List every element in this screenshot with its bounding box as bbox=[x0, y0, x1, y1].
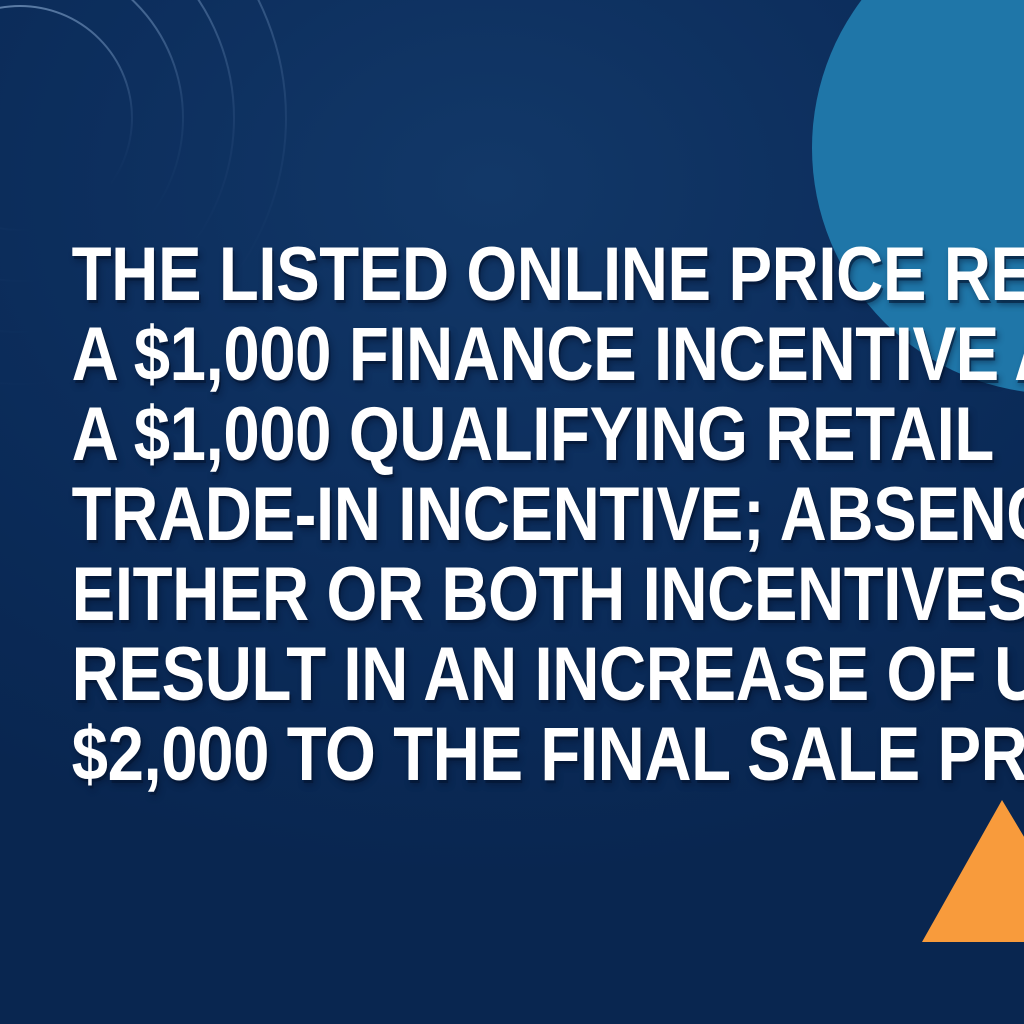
headline-line-5: EITHER OR BOTH INCENTIVES WILL bbox=[72, 555, 953, 635]
headline-line-6: RESULT IN AN INCREASE OF UP TO bbox=[72, 635, 953, 715]
headline-line-7: $2,000 TO THE FINAL SALE PRICE. bbox=[72, 715, 953, 795]
headline-line-2: A $1,000 FINANCE INCENTIVE AND bbox=[72, 315, 953, 395]
headline-line-4: TRADE-IN INCENTIVE; ABSENCE OF bbox=[72, 475, 953, 555]
promo-banner: THE LISTED ONLINE PRICE REFLECTS A $1,00… bbox=[0, 0, 1024, 1024]
headline-line-3: A $1,000 QUALIFYING RETAIL bbox=[72, 395, 953, 475]
headline-text-block: THE LISTED ONLINE PRICE REFLECTS A $1,00… bbox=[0, 0, 1024, 1024]
headline-line-1: THE LISTED ONLINE PRICE REFLECTS bbox=[72, 235, 953, 315]
